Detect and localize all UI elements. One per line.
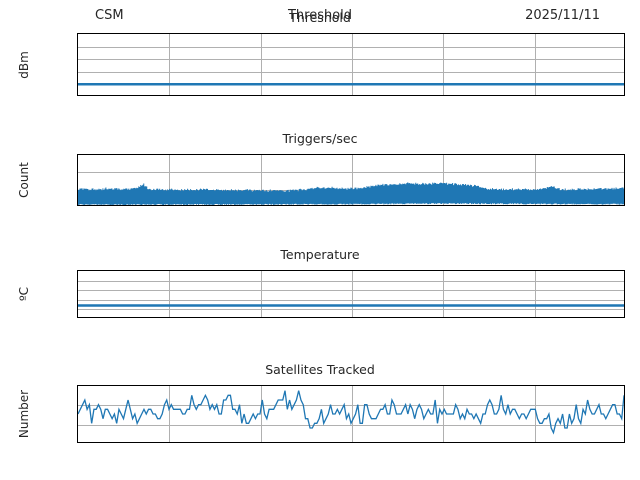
x-tick-label: 4	[166, 317, 173, 318]
x-tick-label: 20	[528, 205, 542, 206]
x-tick-mark	[443, 442, 444, 443]
x-tick-label: 24	[619, 95, 625, 96]
header-row: CSM Threshold 2025/11/11	[0, 8, 640, 28]
x-tick-mark	[260, 317, 261, 318]
series-canvas	[78, 34, 624, 95]
x-tick-label: 8	[257, 205, 264, 206]
plot-area[interactable]: 0400080001200004812162024	[77, 154, 625, 206]
x-tick-label: 12	[345, 317, 359, 318]
y-axis-label: ºC	[17, 287, 31, 301]
x-tick-mark	[77, 205, 78, 206]
x-tick-label: 8	[257, 442, 264, 443]
x-tick-label: 24	[619, 205, 625, 206]
x-tick-label: 16	[436, 95, 450, 96]
x-tick-mark	[534, 205, 535, 206]
x-tick-mark	[534, 442, 535, 443]
x-tick-label: 20	[528, 442, 542, 443]
x-tick-label: 0	[77, 442, 82, 443]
x-tick-label: 24	[619, 442, 625, 443]
x-tick-label: 12	[345, 442, 359, 443]
plot-area[interactable]: −2002040608004812162024	[77, 270, 625, 318]
panel-title: Satellites Tracked	[0, 362, 640, 377]
x-tick-mark	[351, 95, 352, 96]
x-tick-mark	[443, 95, 444, 96]
x-tick-mark	[169, 205, 170, 206]
panel-title: Triggers/sec	[0, 131, 640, 146]
x-tick-mark	[169, 442, 170, 443]
y-axis-label: Number	[17, 390, 31, 438]
x-tick-mark	[77, 442, 78, 443]
x-tick-label: 0	[77, 95, 82, 96]
y-axis-label: dBm	[17, 51, 31, 79]
y-axis-label: Count	[17, 162, 31, 198]
x-tick-mark	[169, 317, 170, 318]
x-tick-label: 16	[436, 205, 450, 206]
x-tick-mark	[351, 317, 352, 318]
x-tick-label: 20	[528, 317, 542, 318]
x-tick-mark	[443, 317, 444, 318]
x-tick-label: 4	[166, 442, 173, 443]
x-tick-mark	[260, 205, 261, 206]
x-tick-label: 0	[77, 205, 82, 206]
x-tick-mark	[260, 442, 261, 443]
plot-area[interactable]: −100−90−80−70−60−5004812162024	[77, 33, 625, 96]
x-tick-label: 16	[436, 442, 450, 443]
x-tick-label: 16	[436, 317, 450, 318]
series-canvas	[78, 386, 624, 442]
x-tick-mark	[351, 442, 352, 443]
series-area-triggers	[78, 182, 624, 205]
x-tick-label: 4	[166, 95, 173, 96]
panel-title: Temperature	[0, 247, 640, 262]
x-tick-mark	[534, 317, 535, 318]
x-tick-label: 8	[257, 317, 264, 318]
x-tick-mark	[77, 95, 78, 96]
series-line-satellites_tracked	[78, 391, 624, 433]
x-tick-mark	[534, 95, 535, 96]
x-tick-mark	[443, 205, 444, 206]
x-tick-mark	[260, 95, 261, 96]
plot-area[interactable]: 0481204812162024	[77, 385, 625, 443]
x-tick-label: 24	[619, 317, 625, 318]
date-label: 2025/11/11	[525, 8, 600, 23]
x-tick-label: 0	[77, 317, 82, 318]
x-tick-mark	[351, 205, 352, 206]
x-tick-label: 4	[166, 205, 173, 206]
x-tick-label: 12	[345, 205, 359, 206]
series-canvas	[78, 155, 624, 205]
x-tick-label: 20	[528, 95, 542, 96]
x-tick-mark	[77, 317, 78, 318]
x-tick-label: 12	[345, 95, 359, 96]
monitoring-dashboard: CSM Threshold 2025/11/11 Threshold−100−9…	[0, 0, 640, 480]
series-canvas	[78, 271, 624, 317]
x-tick-label: 8	[257, 95, 264, 96]
x-tick-mark	[169, 95, 170, 96]
